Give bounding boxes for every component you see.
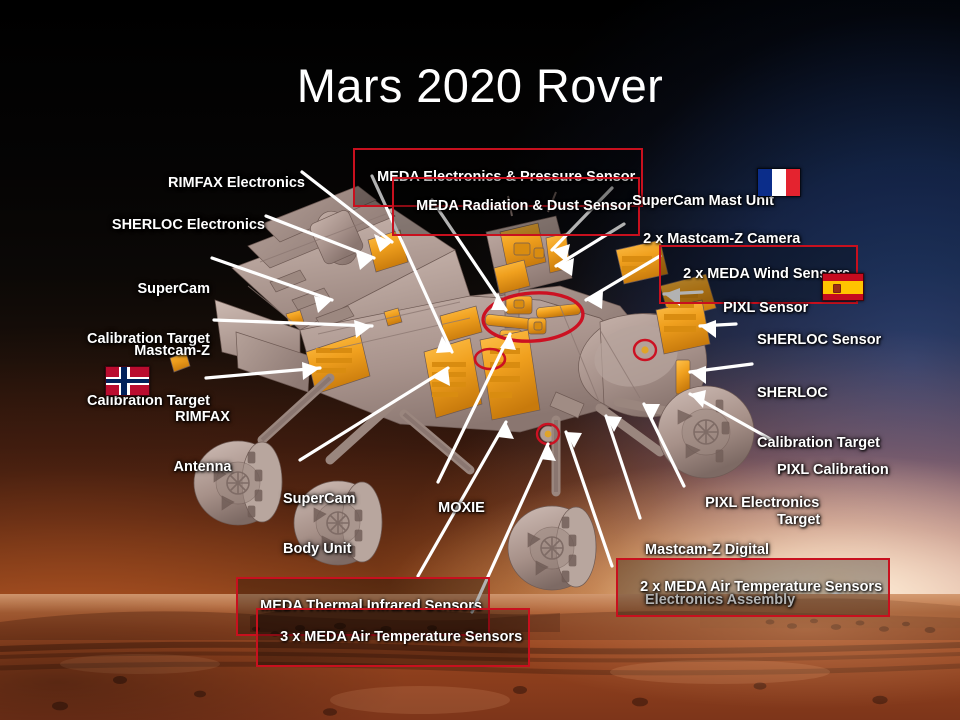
callout-label-text: SHERLOC Electronics [112,217,265,233]
callout-label-line1: Mastcam-Z Digital [645,542,795,559]
france-flag-icon [757,168,801,197]
callout-label-line1: SHERLOC [757,385,880,402]
callout-sherloc-electronics: SHERLOC Electronics [55,200,265,250]
norway-flag-icon [105,366,150,396]
callout-label-line2: Antenna [150,459,255,476]
callout-label-line1: PIXL Calibration [777,462,889,479]
callout-label-line1: Mastcam-Z [60,343,210,360]
callout-label-text: 3 x MEDA Air Temperature Sensors [280,629,522,645]
callout-rimfax-antenna: RIMFAX Antenna [150,376,255,508]
callout-label-line1: SuperCam [60,281,210,298]
callout-meda-radiation-dust-sensor: MEDA Radiation & Dust Sensor [392,177,640,236]
callout-label-text: SuperCam Mast Unit [632,193,774,209]
callout-label-text: MOXIE [438,500,485,516]
callout-label-line2: Body Unit [283,541,356,558]
callout-label-text: PIXL Sensor [723,300,808,316]
callout-label-line1: SuperCam [283,491,356,508]
callout-label-text: 2 x MEDA Air Temperature Sensors [640,579,882,595]
callout-label-text: SHERLOC Sensor [757,332,881,348]
spain-flag-icon [822,273,864,301]
callout-supercam-body-unit: SuperCam Body Unit [283,458,356,590]
callout-meda-air-temperature-sensors-3x: 3 x MEDA Air Temperature Sensors [256,608,530,667]
mars-2020-rover-infographic: Mars 2020 Rover [0,0,960,720]
callout-label-text: RIMFAX Electronics [168,175,305,191]
callout-moxie: MOXIE [422,483,485,533]
callout-meda-air-temperature-sensors-2x: 2 x MEDA Air Temperature Sensors [616,558,890,617]
callout-label-text: MEDA Radiation & Dust Sensor [416,198,632,214]
callout-label-line1: RIMFAX [150,409,255,426]
